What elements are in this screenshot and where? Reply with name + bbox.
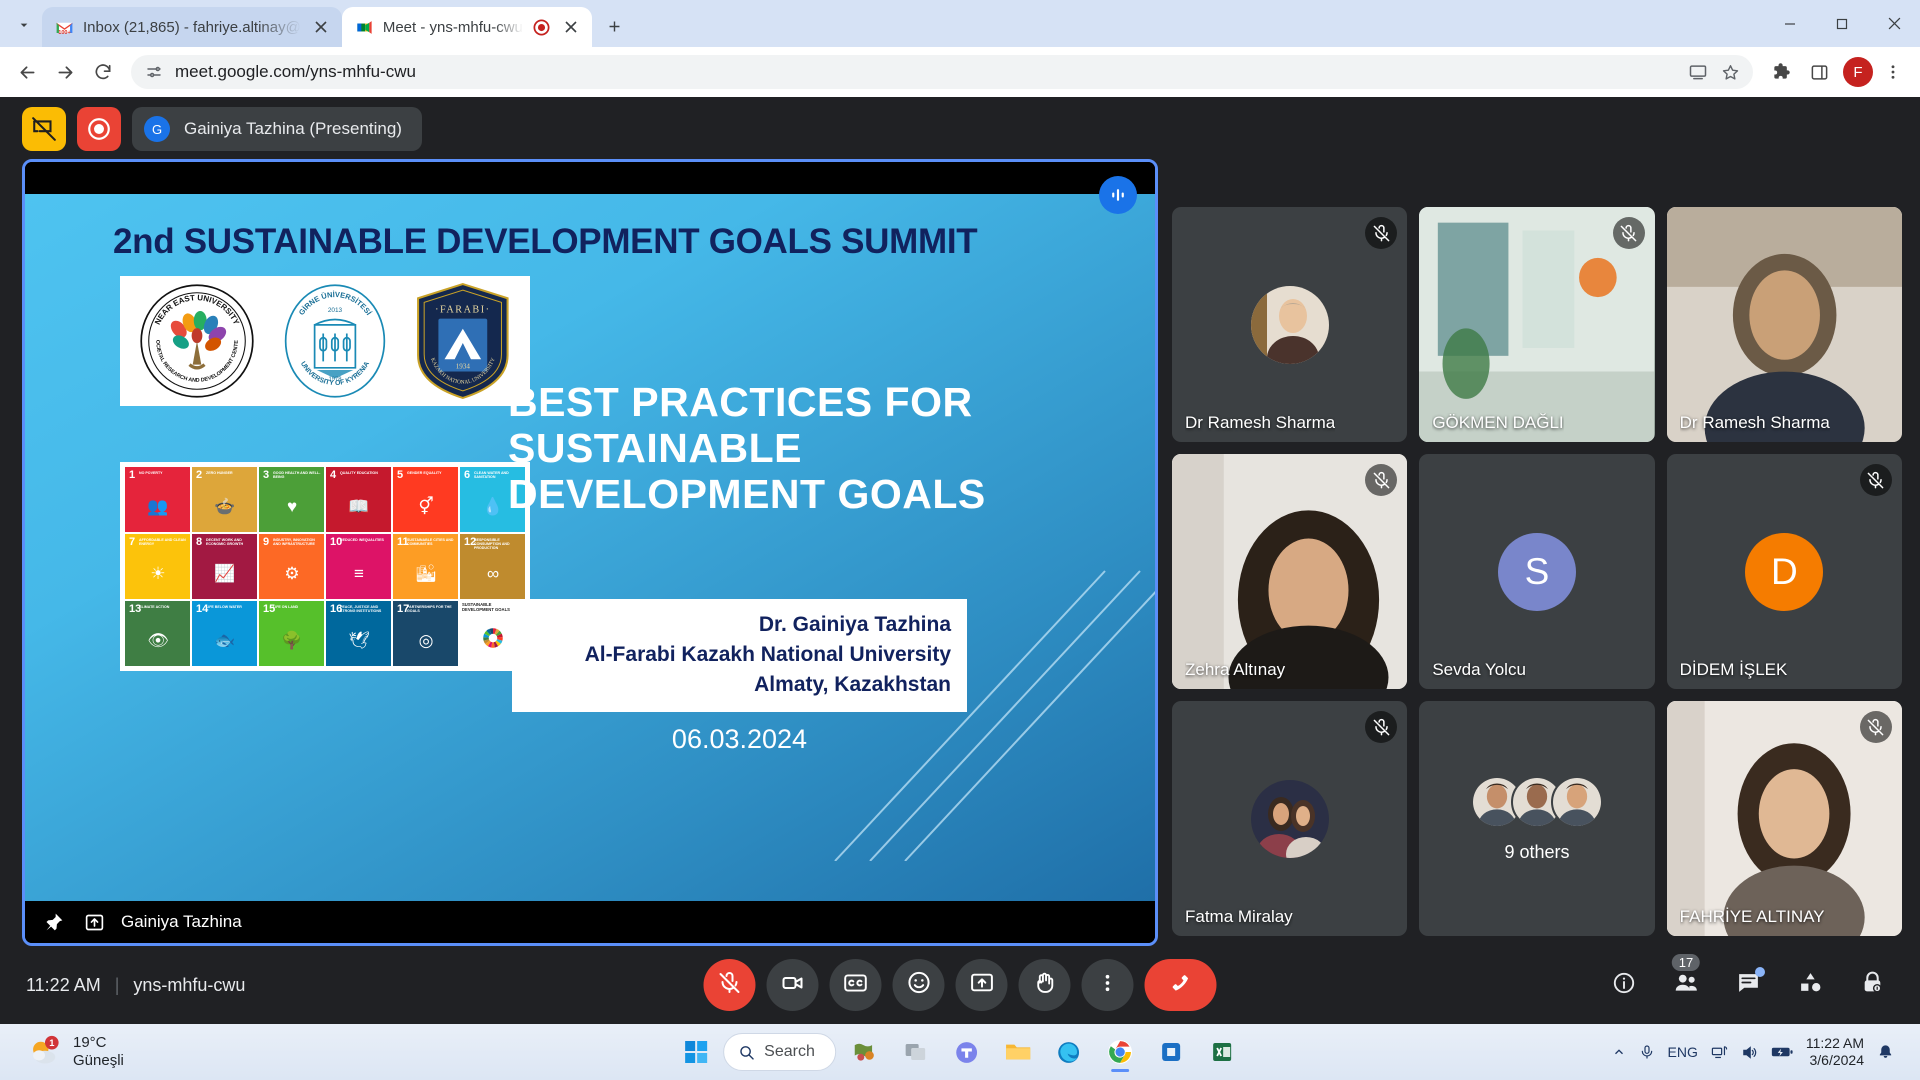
sdg-goal-9: 9INDUSTRY, INNOVATION AND INFRASTRUCTURE… bbox=[259, 534, 324, 599]
sdg-glyph-icon: 🏙 bbox=[397, 548, 455, 599]
presenting-bar: G Gainiya Tazhina (Presenting) bbox=[0, 97, 1920, 159]
sdg-goal-4: 4QUALITY EDUCATION📖 bbox=[326, 467, 391, 532]
task-view-icon[interactable] bbox=[894, 1031, 938, 1073]
meeting-details-button[interactable] bbox=[1602, 963, 1646, 1007]
reactions-button[interactable] bbox=[893, 959, 945, 1011]
mic-off-icon bbox=[1860, 464, 1892, 496]
tab-inbox[interactable]: 100+ Inbox (21,865) - fahriye.altinay@ bbox=[42, 7, 342, 47]
tab-search-chevron-down-icon[interactable] bbox=[6, 7, 42, 43]
author-line: Dr. Gainiya Tazhina bbox=[528, 610, 951, 640]
close-icon[interactable] bbox=[1868, 0, 1920, 47]
sdg-glyph-icon: 📈 bbox=[196, 548, 254, 599]
close-icon[interactable] bbox=[560, 16, 582, 38]
chat-button[interactable] bbox=[1726, 963, 1770, 1007]
sdg-goal-2: 2ZERO HUNGER🍲 bbox=[192, 467, 257, 532]
more-options-button[interactable] bbox=[1082, 959, 1134, 1011]
present-screen-icon bbox=[969, 970, 994, 1000]
info-icon bbox=[1612, 971, 1636, 1000]
sdg-label: AFFORDABLE AND CLEAN ENERGY bbox=[139, 538, 188, 546]
sdg-glyph-icon: 📖 bbox=[330, 481, 388, 532]
sdg-label: CLIMATE ACTION bbox=[139, 605, 188, 609]
sdg-label: NO POVERTY bbox=[139, 471, 188, 475]
volume-icon[interactable] bbox=[1741, 1044, 1758, 1061]
sdg-label: ZERO HUNGER bbox=[206, 471, 255, 475]
activities-button[interactable] bbox=[1788, 963, 1832, 1007]
participant-name: GÖKMEN DAĞLI bbox=[1432, 413, 1563, 433]
weather-temp: 19°C bbox=[73, 1034, 124, 1052]
presentation-pane[interactable]: 2nd SUSTAINABLE DEVELOPMENT GOALS SUMMIT… bbox=[22, 159, 1158, 946]
file-explorer-icon[interactable] bbox=[996, 1031, 1040, 1073]
audio-activity-icon bbox=[1099, 176, 1137, 214]
svg-text:2013: 2013 bbox=[328, 307, 343, 314]
mic-off-icon bbox=[1365, 711, 1397, 743]
sdg-label: GENDER EQUALITY bbox=[407, 471, 456, 475]
sdg-glyph-icon: 👥 bbox=[129, 481, 187, 532]
participant-name: Dr Ramesh Sharma bbox=[1185, 413, 1335, 433]
sdg-glyph-icon: ♥ bbox=[263, 481, 321, 532]
sdg-glyph-icon: 👁 bbox=[129, 615, 187, 666]
call-controls bbox=[704, 959, 1217, 1011]
avatar: S bbox=[1498, 533, 1576, 611]
camera-button[interactable] bbox=[767, 959, 819, 1011]
headline-line: SUSTAINABLE bbox=[508, 426, 1008, 472]
others-count-label: 9 others bbox=[1419, 842, 1654, 863]
battery-charging-icon[interactable] bbox=[1771, 1044, 1793, 1060]
meet-right-controls: 17 bbox=[1602, 963, 1894, 1007]
sdg-goal-3: 3GOOD HEALTH AND WELL-BEING♥ bbox=[259, 467, 324, 532]
sdg-glyph-icon: ⚥ bbox=[397, 481, 455, 532]
bell-icon[interactable] bbox=[1877, 1044, 1894, 1061]
headline-line: DEVELOPMENT GOALS bbox=[508, 472, 1008, 518]
sdg-glyph-icon: ◎ bbox=[397, 615, 455, 666]
site-settings-icon[interactable] bbox=[143, 61, 165, 83]
sdg-glyph-icon: 🕊 bbox=[330, 615, 388, 666]
search-input[interactable]: Search bbox=[723, 1033, 836, 1071]
browser-window: 100+ Inbox (21,865) - fahriye.altinay@ M… bbox=[0, 0, 1920, 1080]
sdg-glyph-icon: ≡ bbox=[330, 548, 388, 599]
taskbar-clock[interactable]: 11:22 AM 3/6/2024 bbox=[1806, 1035, 1864, 1070]
sdg-label: LIFE BELOW WATER bbox=[206, 605, 255, 609]
back-arrow-icon[interactable] bbox=[9, 54, 45, 90]
participant-name: DİDEM İŞLEK bbox=[1680, 660, 1788, 680]
excel-icon[interactable] bbox=[1200, 1031, 1244, 1073]
sdg-label: PEACE, JUSTICE AND STRONG INSTITUTIONS bbox=[340, 605, 389, 613]
svg-text:1934: 1934 bbox=[456, 362, 471, 370]
star-icon[interactable] bbox=[1719, 61, 1741, 83]
participant-name: Fatma Miralay bbox=[1185, 907, 1293, 927]
sdg-goal-1: 1NO POVERTY👥 bbox=[125, 467, 190, 532]
participant-tile[interactable]: SSevda Yolcu bbox=[1419, 454, 1654, 689]
three-dot-icon bbox=[1097, 972, 1119, 999]
pop-out-icon[interactable] bbox=[81, 909, 107, 935]
meet-bottom-bar: 11:22 AM | yns-mhfu-cwu 17 bbox=[0, 946, 1920, 1024]
al-farabi-kazakh-national-university-logo: ·FARABI· 1934 KAZAKH NATIONAL UNIVERSITY bbox=[414, 282, 512, 400]
author-line: Almaty, Kazakhstan bbox=[528, 670, 951, 700]
mic-off-icon bbox=[1365, 217, 1397, 249]
people-icon bbox=[1673, 970, 1699, 1001]
sdg-glyph-icon: ∞ bbox=[464, 548, 522, 599]
meeting-info: 11:22 AM | yns-mhfu-cwu bbox=[26, 975, 245, 996]
camera-icon bbox=[781, 971, 805, 1000]
sdg-label: QUALITY EDUCATION bbox=[340, 471, 389, 475]
gmail-icon: 100+ bbox=[55, 18, 74, 37]
microphone-off-button[interactable] bbox=[704, 959, 756, 1011]
address-bar[interactable]: meet.google.com/yns-mhfu-cwu bbox=[131, 55, 1753, 89]
svg-text:·FARABI·: ·FARABI· bbox=[435, 305, 490, 316]
participant-name: Sevda Yolcu bbox=[1432, 660, 1526, 680]
sdg-label: INDUSTRY, INNOVATION AND INFRASTRUCTURE bbox=[273, 538, 322, 546]
sdg-label: SUSTAINABLE CITIES AND COMMUNITIES bbox=[407, 538, 456, 546]
sdg-goal-12: 12RESPONSIBLE CONSUMPTION AND PRODUCTION… bbox=[460, 534, 525, 599]
presenter-name: Gainiya Tazhina bbox=[121, 912, 242, 932]
chrome-icon[interactable] bbox=[1098, 1031, 1142, 1073]
participant-tile[interactable]: Fatma Miralay bbox=[1172, 701, 1407, 936]
sdg-label: LIFE ON LAND bbox=[273, 605, 322, 609]
weather-widget[interactable]: 1 19°C Güneşli bbox=[10, 1034, 124, 1071]
sdg-glyph-icon: ⚙ bbox=[263, 548, 321, 599]
taskbar-center: Search bbox=[676, 1031, 1244, 1073]
avatar bbox=[1551, 776, 1603, 828]
meeting-stage: 2nd SUSTAINABLE DEVELOPMENT GOALS SUMMIT… bbox=[0, 159, 1920, 946]
new-tab-icon[interactable] bbox=[598, 9, 632, 43]
recording-icon[interactable] bbox=[532, 18, 551, 37]
browser-toolbar: meet.google.com/yns-mhfu-cwu F bbox=[0, 47, 1920, 97]
author-line: Al-Farabi Kazakh National University bbox=[528, 640, 951, 670]
chevron-up-icon[interactable] bbox=[1612, 1045, 1626, 1059]
headline-line: BEST PRACTICES FOR bbox=[508, 380, 1008, 426]
sdg-glyph-icon: 🌳 bbox=[263, 615, 321, 666]
sdg-goal-10: 10REDUCED INEQUALITIES≡ bbox=[326, 534, 391, 599]
present-now-button[interactable] bbox=[956, 959, 1008, 1011]
activities-icon bbox=[1798, 970, 1823, 1000]
url-text: meet.google.com/yns-mhfu-cwu bbox=[175, 62, 1677, 82]
clock-time: 11:22 AM bbox=[1806, 1035, 1864, 1053]
presenter-chip[interactable]: G Gainiya Tazhina (Presenting) bbox=[132, 107, 422, 151]
leave-call-button[interactable] bbox=[1145, 959, 1217, 1011]
participant-tile[interactable]: Zehra Altınay bbox=[1172, 454, 1407, 689]
stop-presenting-icon[interactable] bbox=[22, 107, 66, 151]
sdg-goal-7: 7AFFORDABLE AND CLEAN ENERGY☀ bbox=[125, 534, 190, 599]
host-controls-button[interactable] bbox=[1850, 963, 1894, 1007]
sdg-goal-16: 16PEACE, JUSTICE AND STRONG INSTITUTIONS… bbox=[326, 601, 391, 666]
meeting-time: 11:22 AM bbox=[26, 975, 101, 996]
avatar bbox=[1251, 780, 1329, 858]
svg-text:100+: 100+ bbox=[58, 29, 70, 35]
svg-text:1: 1 bbox=[49, 1038, 54, 1048]
emoji-icon bbox=[906, 970, 931, 1000]
sdg-goals-grid: 1NO POVERTY👥2ZERO HUNGER🍲3GOOD HEALTH AN… bbox=[120, 462, 530, 671]
unread-dot-icon bbox=[1755, 967, 1765, 977]
slide-content: 2nd SUSTAINABLE DEVELOPMENT GOALS SUMMIT… bbox=[25, 194, 1155, 901]
profile-avatar[interactable]: F bbox=[1843, 57, 1873, 87]
mic-off-icon bbox=[1860, 711, 1892, 743]
avatar: G bbox=[144, 116, 170, 142]
close-icon[interactable] bbox=[310, 16, 332, 38]
avatar: D bbox=[1745, 533, 1823, 611]
store-icon[interactable] bbox=[1149, 1031, 1193, 1073]
mic-off-icon bbox=[1613, 217, 1645, 249]
slide-title: 2nd SUSTAINABLE DEVELOPMENT GOALS SUMMIT bbox=[113, 222, 977, 262]
sun-cloud-icon: 1 bbox=[28, 1035, 62, 1069]
participant-tile[interactable]: Dr Ramesh Sharma bbox=[1172, 207, 1407, 442]
raise-hand-icon bbox=[1032, 970, 1057, 1000]
host-lock-icon bbox=[1860, 970, 1885, 1000]
participant-video bbox=[1667, 207, 1902, 442]
participant-name: Zehra Altınay bbox=[1185, 660, 1285, 680]
near-east-university-logo: NEAR EAST UNIVERSITY SOCIETAL RESEARCH A… bbox=[138, 282, 256, 400]
svg-text:1978: 1978 bbox=[329, 377, 343, 383]
participant-tile[interactable]: DDİDEM İŞLEK bbox=[1667, 454, 1902, 689]
weather-condition: Güneşli bbox=[73, 1052, 124, 1070]
sdg-goal-8: 8DECENT WORK AND ECONOMIC GROWTH📈 bbox=[192, 534, 257, 599]
edge-icon[interactable] bbox=[1047, 1031, 1091, 1073]
participant-name: FAHRİYE ALTINAY bbox=[1680, 907, 1825, 927]
google-meet-app: G Gainiya Tazhina (Presenting) bbox=[0, 97, 1920, 1024]
extensions-icon[interactable] bbox=[1763, 54, 1799, 90]
avatar bbox=[1251, 286, 1329, 364]
presentation-footer: Gainiya Tazhina bbox=[25, 901, 1155, 943]
clock-date: 3/6/2024 bbox=[1806, 1052, 1864, 1070]
tab-meet[interactable]: Meet - yns-mhfu-cwu bbox=[342, 7, 592, 47]
teams-icon[interactable] bbox=[945, 1031, 989, 1073]
tab-title: Inbox (21,865) - fahriye.altinay@ bbox=[83, 19, 301, 36]
mic-off-icon bbox=[718, 971, 742, 1000]
sdg-label: RESPONSIBLE CONSUMPTION AND PRODUCTION bbox=[474, 538, 523, 550]
search-icon bbox=[738, 1044, 755, 1061]
university-of-kyrenia-logo: GİRNE ÜNİVERSİTESİ UNIVERSITY OF KYRENIA… bbox=[276, 282, 394, 400]
participant-tile[interactable]: FAHRİYE ALTINAY bbox=[1667, 701, 1902, 936]
tab-title: Meet - yns-mhfu-cwu bbox=[383, 19, 523, 36]
badge-count: 17 bbox=[1672, 954, 1700, 971]
reload-icon[interactable] bbox=[85, 54, 121, 90]
separator: | bbox=[115, 975, 120, 996]
sdg-label: REDUCED INEQUALITIES bbox=[340, 538, 389, 542]
window-controls bbox=[1764, 0, 1920, 47]
participants-button[interactable]: 17 bbox=[1664, 963, 1708, 1007]
slide-date: 06.03.2024 bbox=[512, 724, 967, 755]
minimize-icon[interactable] bbox=[1764, 0, 1816, 47]
side-panel-icon[interactable] bbox=[1801, 54, 1837, 90]
participants-grid: Dr Ramesh SharmaGÖKMEN DAĞLIDr Ramesh Sh… bbox=[1172, 159, 1902, 946]
slide-headline: BEST PRACTICES FORSUSTAINABLEDEVELOPMENT… bbox=[508, 380, 1008, 518]
pin-icon[interactable] bbox=[41, 909, 67, 935]
captions-button[interactable] bbox=[830, 959, 882, 1011]
google-meet-icon bbox=[355, 18, 374, 37]
sdg-goal-13: 13CLIMATE ACTION👁 bbox=[125, 601, 190, 666]
sdg-label: GOOD HEALTH AND WELL-BEING bbox=[273, 471, 322, 479]
tab-strip: 100+ Inbox (21,865) - fahriye.altinay@ M… bbox=[0, 0, 1920, 47]
network-icon[interactable] bbox=[1711, 1044, 1728, 1061]
cast-icon[interactable] bbox=[1687, 61, 1709, 83]
presenter-label: Gainiya Tazhina (Presenting) bbox=[184, 119, 402, 139]
participant-tile[interactable]: 9 others bbox=[1419, 701, 1654, 936]
presentation-topbar bbox=[25, 162, 1155, 194]
raise-hand-button[interactable] bbox=[1019, 959, 1071, 1011]
three-dot-menu-icon[interactable] bbox=[1875, 54, 1911, 90]
sdg-glyph-icon: 🍲 bbox=[196, 481, 254, 532]
participant-name: Dr Ramesh Sharma bbox=[1680, 413, 1830, 433]
sdg-goal-17: 17PARTNERSHIPS FOR THE GOALS◎ bbox=[393, 601, 458, 666]
sdg-goal-14: 14LIFE BELOW WATER🐟 bbox=[192, 601, 257, 666]
windows-start-icon[interactable] bbox=[676, 1032, 716, 1072]
participant-tile[interactable]: Dr Ramesh Sharma bbox=[1667, 207, 1902, 442]
system-tray: ENG 11:22 AM 3/6/2024 bbox=[1612, 1035, 1910, 1070]
language-indicator[interactable]: ENG bbox=[1668, 1044, 1698, 1060]
windows-taskbar: 1 19°C Güneşli Search bbox=[0, 1024, 1920, 1080]
meeting-code: yns-mhfu-cwu bbox=[133, 975, 245, 996]
search-placeholder: Search bbox=[764, 1043, 815, 1061]
forward-arrow-icon[interactable] bbox=[47, 54, 83, 90]
sdg-glyph-icon: ☀ bbox=[129, 548, 187, 599]
sdg-label: PARTNERSHIPS FOR THE GOALS bbox=[407, 605, 456, 613]
recording-icon[interactable] bbox=[77, 107, 121, 151]
microphone-icon[interactable] bbox=[1639, 1044, 1655, 1060]
sdg-glyph-icon: 🐟 bbox=[196, 615, 254, 666]
group-avatars bbox=[1471, 776, 1603, 828]
maximize-icon[interactable] bbox=[1816, 0, 1868, 47]
participant-tile[interactable]: GÖKMEN DAĞLI bbox=[1419, 207, 1654, 442]
logos-box: NEAR EAST UNIVERSITY SOCIETAL RESEARCH A… bbox=[120, 276, 530, 406]
widgets-icon[interactable] bbox=[843, 1031, 887, 1073]
sdg-goal-11: 11SUSTAINABLE CITIES AND COMMUNITIES🏙 bbox=[393, 534, 458, 599]
sdg-goal-5: 5GENDER EQUALITY⚥ bbox=[393, 467, 458, 532]
closed-caption-icon bbox=[843, 970, 869, 1001]
end-call-icon bbox=[1166, 968, 1196, 1003]
sdg-label: DECENT WORK AND ECONOMIC GROWTH bbox=[206, 538, 255, 546]
slide-author-box: Dr. Gainiya TazhinaAl-Farabi Kazakh Nati… bbox=[512, 599, 967, 712]
sdg-goal-15: 15LIFE ON LAND🌳 bbox=[259, 601, 324, 666]
